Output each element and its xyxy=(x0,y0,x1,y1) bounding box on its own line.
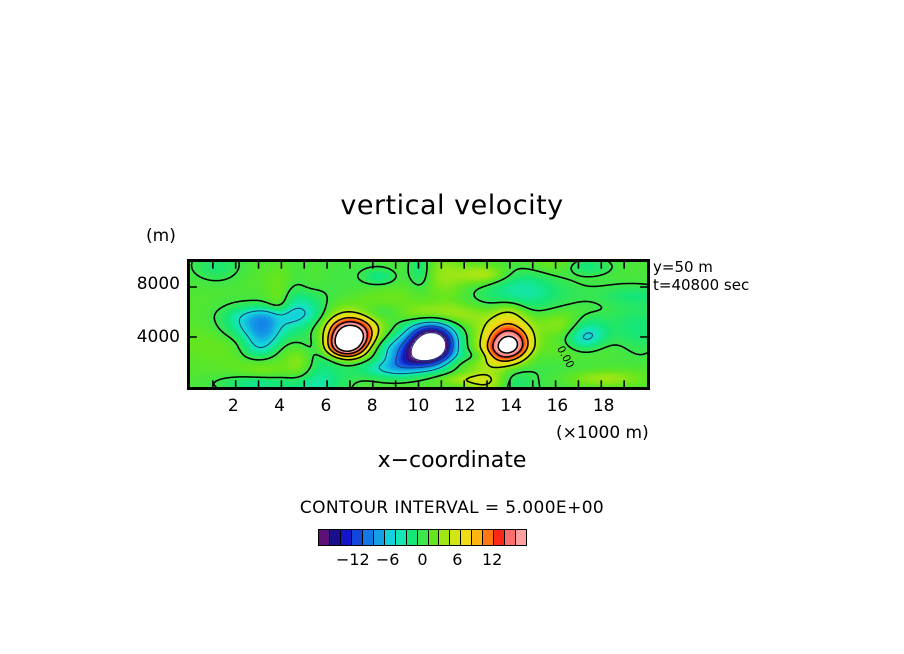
x-ticklabel: 12 xyxy=(454,396,476,416)
x-ticklabel: 16 xyxy=(547,396,569,416)
x-axis-unit-label: (×1000 m) xyxy=(556,423,649,443)
colorbar-ticklabel: 6 xyxy=(452,550,462,569)
colorbar-cell xyxy=(363,530,374,545)
shaded-field-raster xyxy=(190,262,647,387)
colorbar-cell xyxy=(483,530,494,545)
colorbar-cell xyxy=(505,530,516,545)
colorbar-cell xyxy=(319,530,330,545)
y-ticklabel: 8000 xyxy=(120,276,180,293)
colorbar-cell xyxy=(429,530,440,545)
colorbar-cell xyxy=(472,530,483,545)
colorbar-cell xyxy=(450,530,461,545)
colorbar-cell xyxy=(385,530,396,545)
colorbar-cell xyxy=(396,530,407,545)
colorbar-ticklabel: −12 xyxy=(336,550,370,569)
colorbar[interactable] xyxy=(318,529,527,546)
colorbar-cells[interactable] xyxy=(318,529,527,546)
colorbar-cell xyxy=(439,530,450,545)
x-ticklabel: 2 xyxy=(228,396,239,416)
colorbar-ticklabel: −6 xyxy=(376,550,400,569)
colorbar-cell xyxy=(494,530,505,545)
x-ticklabel: 18 xyxy=(593,396,615,416)
x-ticklabel: 8 xyxy=(367,396,378,416)
colorbar-ticklabel: 0 xyxy=(417,550,427,569)
x-ticklabel: 10 xyxy=(408,396,430,416)
x-axis-title: x−coordinate xyxy=(0,448,904,473)
colorbar-ticklabel: 12 xyxy=(482,550,502,569)
contour-field: 0.00 xyxy=(190,262,647,387)
annotation-line-0: y=50 m xyxy=(653,258,749,276)
colorbar-cell xyxy=(461,530,472,545)
x-ticklabel: 14 xyxy=(500,396,522,416)
colorbar-cell xyxy=(341,530,352,545)
contour-interval-label: CONTOUR INTERVAL = 5.000E+00 xyxy=(0,498,904,518)
colorbar-cell xyxy=(407,530,418,545)
colorbar-ticklabels: −12−60612 xyxy=(318,550,527,570)
colorbar-cell xyxy=(330,530,341,545)
plot-annotations: y=50 mt=40800 sec xyxy=(653,258,749,294)
figure-canvas: vertical velocity (m) 40008000 0.00 y=50… xyxy=(0,0,904,654)
contour-plot-panel[interactable]: 0.00 xyxy=(187,259,650,390)
colorbar-cell xyxy=(516,530,526,545)
y-axis-unit-label: (m) xyxy=(146,226,176,246)
x-ticklabel: 4 xyxy=(274,396,285,416)
x-ticklabel: 6 xyxy=(320,396,331,416)
page-title: vertical velocity xyxy=(0,190,904,221)
annotation-line-1: t=40800 sec xyxy=(653,276,749,294)
y-axis-ticklabels: 40008000 xyxy=(112,259,180,390)
y-ticklabel: 4000 xyxy=(120,329,180,346)
colorbar-cell xyxy=(418,530,429,545)
x-axis-ticklabels: 24681012141618 xyxy=(187,396,650,418)
colorbar-cell xyxy=(374,530,385,545)
colorbar-cell xyxy=(352,530,363,545)
